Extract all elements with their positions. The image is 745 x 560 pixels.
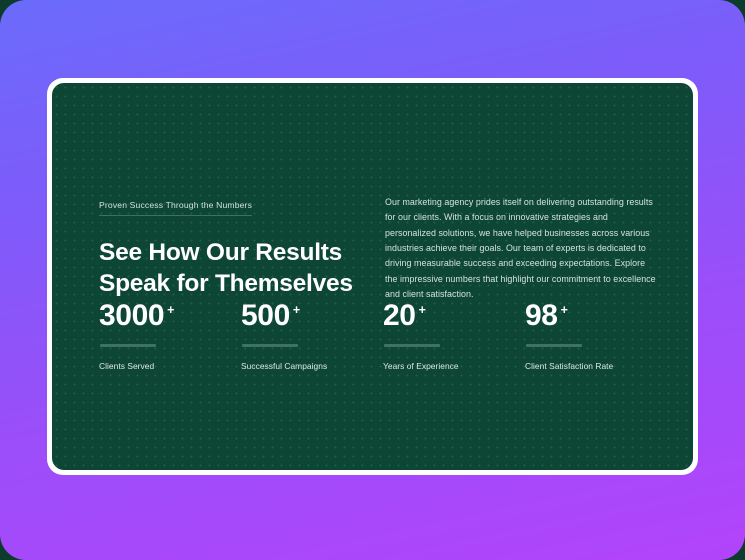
stat-item: 98+ Client Satisfaction Rate	[525, 301, 667, 372]
stat-divider	[384, 344, 440, 347]
stat-label: Clients Served	[99, 361, 241, 372]
stat-number: 20	[383, 299, 416, 332]
stat-label: Client Satisfaction Rate	[525, 361, 667, 372]
page-title-line-1: See How Our Results	[99, 238, 369, 268]
stat-item: 3000+ Clients Served	[99, 301, 241, 372]
stat-number: 98	[525, 299, 558, 332]
stats-card: Proven Success Through the Numbers See H…	[52, 83, 693, 470]
stat-value: 3000+	[99, 301, 241, 331]
section-intro: Proven Success Through the Numbers See H…	[99, 195, 369, 299]
stat-suffix: +	[561, 303, 568, 317]
page-title: See How Our Results Speak for Themselves	[99, 238, 369, 299]
section-description: Our marketing agency prides itself on de…	[385, 195, 659, 302]
stat-divider	[526, 344, 582, 347]
stat-suffix: +	[167, 303, 174, 317]
stat-value: 20+	[383, 301, 525, 331]
stats-card-frame: Proven Success Through the Numbers See H…	[47, 78, 698, 475]
stat-number: 3000	[99, 299, 164, 332]
stat-value: 98+	[525, 301, 667, 331]
stat-label: Years of Experience	[383, 361, 525, 372]
section-eyebrow: Proven Success Through the Numbers	[99, 200, 252, 216]
stat-value: 500+	[241, 301, 383, 331]
stat-divider	[242, 344, 298, 347]
stat-suffix: +	[419, 303, 426, 317]
page-title-line-2: Speak for Themselves	[99, 269, 369, 299]
page-background: Proven Success Through the Numbers See H…	[0, 0, 745, 560]
stat-number: 500	[241, 299, 290, 332]
stat-suffix: +	[293, 303, 300, 317]
stat-item: 20+ Years of Experience	[383, 301, 525, 372]
section-intro-row: Proven Success Through the Numbers See H…	[99, 195, 659, 302]
stat-label: Successful Campaigns	[241, 361, 383, 372]
stats-list: 3000+ Clients Served 500+ Successful Cam…	[99, 301, 661, 372]
stat-divider	[100, 344, 156, 347]
stat-item: 500+ Successful Campaigns	[241, 301, 383, 372]
